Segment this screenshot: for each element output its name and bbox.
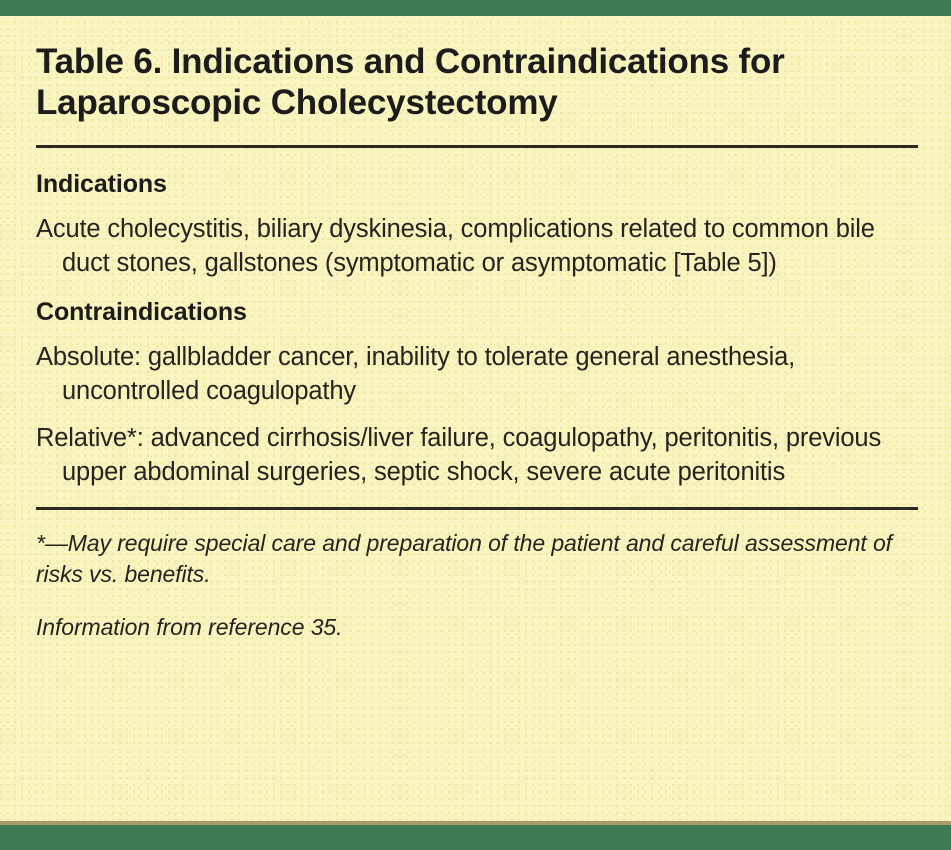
table-content: Table 6. Indications and Contraindicatio… bbox=[0, 16, 951, 821]
section-heading-indications: Indications bbox=[36, 148, 918, 199]
footnote-asterisk: *—May require special care and preparati… bbox=[36, 528, 916, 590]
bottom-accent-bar bbox=[0, 825, 951, 850]
indications-entry: Acute cholecystitis, biliary dyskinesia,… bbox=[36, 199, 900, 280]
footnotes: *—May require special care and preparati… bbox=[36, 510, 918, 642]
contraindications-relative-entry: Relative*: advanced cirrhosis/liver fail… bbox=[36, 408, 900, 489]
section-heading-contraindications: Contraindications bbox=[36, 281, 918, 327]
top-accent-bar bbox=[0, 0, 951, 16]
bottom-bar-group bbox=[0, 821, 951, 850]
page-title: Table 6. Indications and Contraindicatio… bbox=[36, 16, 896, 123]
footnote-source: Information from reference 35. bbox=[36, 590, 916, 643]
contraindications-absolute-entry: Absolute: gallbladder cancer, inability … bbox=[36, 327, 900, 408]
table-card: Table 6. Indications and Contraindicatio… bbox=[0, 0, 951, 850]
